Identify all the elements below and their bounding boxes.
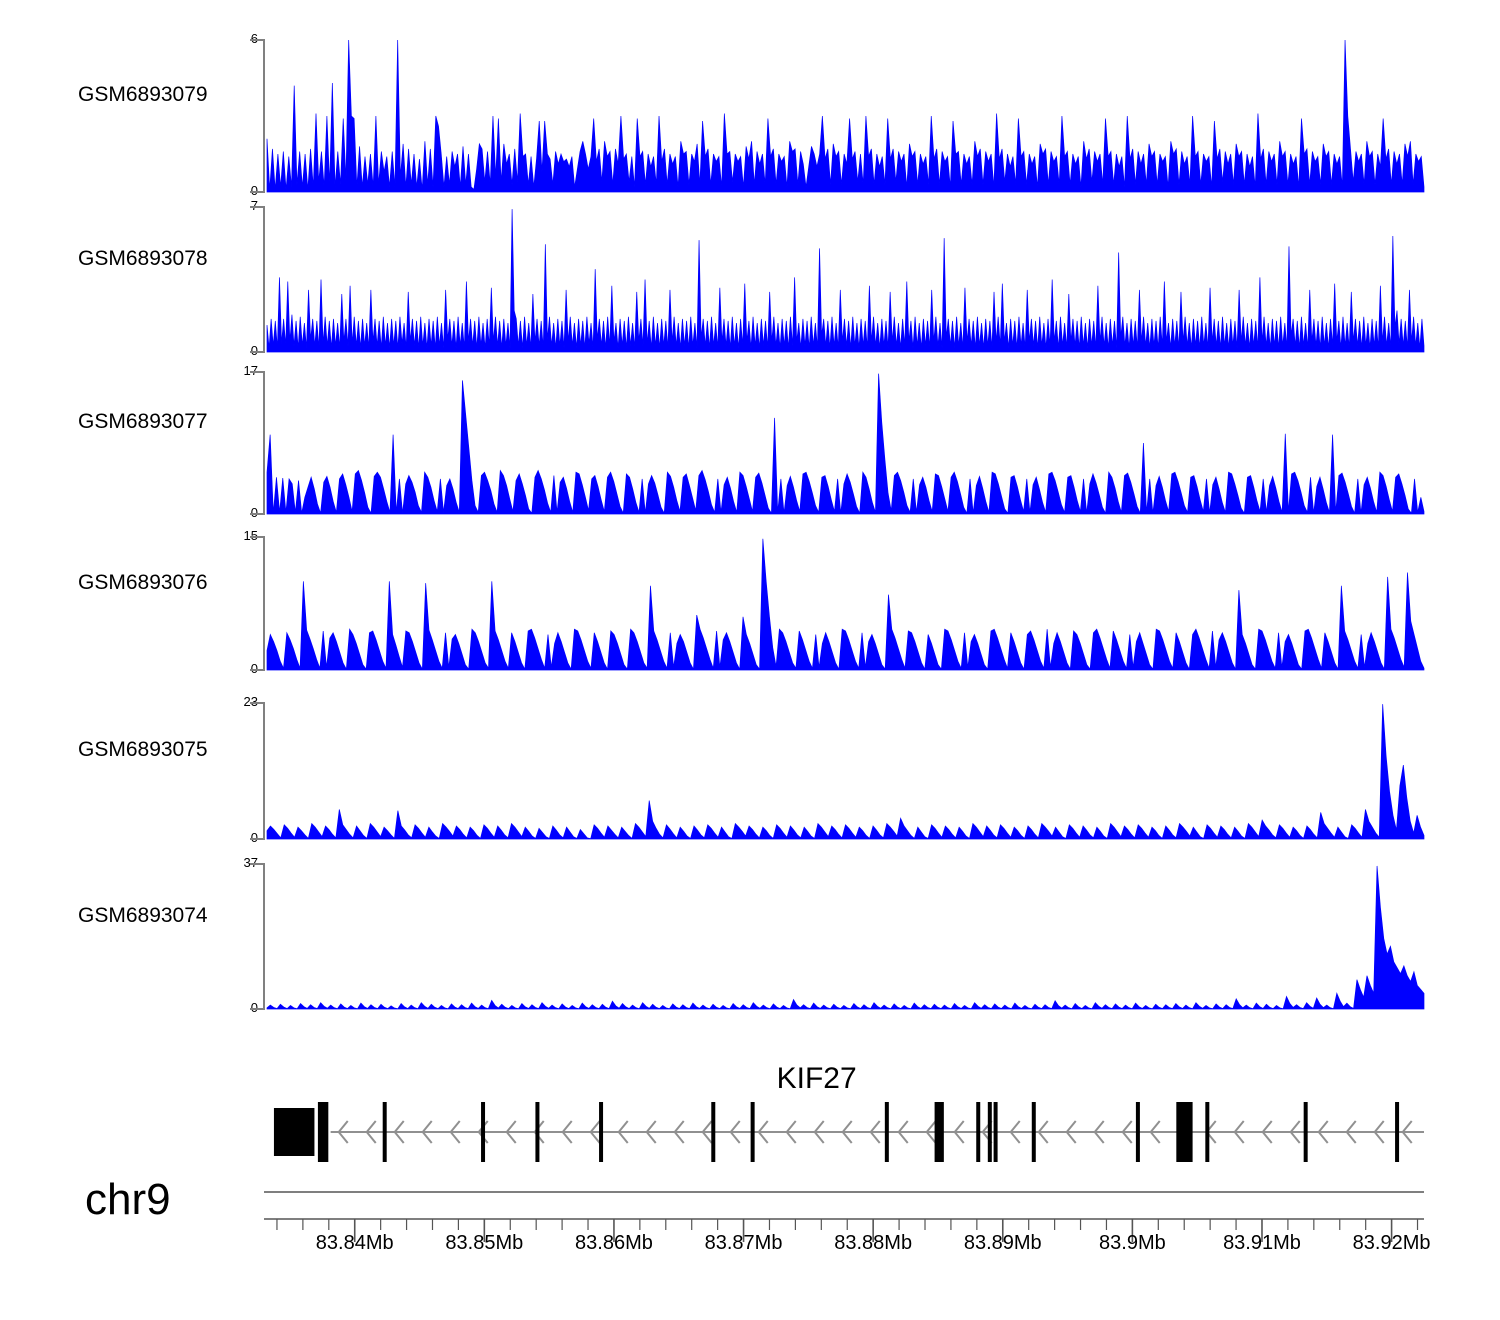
sample-label: GSM6893079 bbox=[78, 83, 208, 107]
exon-block bbox=[1395, 1102, 1399, 1162]
exon-block bbox=[885, 1102, 889, 1162]
sample-label: GSM6893077 bbox=[78, 410, 208, 434]
coverage-area bbox=[267, 866, 1424, 1009]
y-axis-min-label: 0 bbox=[216, 661, 258, 676]
y-axis-max-label: 23 bbox=[216, 694, 258, 709]
coverage-area bbox=[267, 374, 1424, 514]
coverage-area bbox=[267, 40, 1424, 192]
exon-block-wide bbox=[937, 1102, 944, 1162]
exon-block bbox=[711, 1102, 715, 1162]
terminal-exon-block bbox=[274, 1108, 314, 1156]
y-axis-max-label: 6 bbox=[216, 31, 258, 46]
exon-block bbox=[1032, 1102, 1036, 1162]
sample-label: GSM6893074 bbox=[78, 904, 208, 928]
exon-block bbox=[1304, 1102, 1308, 1162]
sample-label: GSM6893078 bbox=[78, 247, 208, 271]
exon-block bbox=[751, 1102, 755, 1162]
gene-model-track[interactable] bbox=[0, 1060, 1500, 1190]
y-axis-max-label: 15 bbox=[216, 528, 258, 543]
exon-block bbox=[1205, 1102, 1209, 1162]
y-axis-min-label: 0 bbox=[216, 183, 258, 198]
y-axis-max-label: 7 bbox=[216, 198, 258, 213]
exon-block bbox=[1136, 1102, 1140, 1162]
exon-block bbox=[481, 1102, 485, 1162]
y-axis-max-label: 37 bbox=[216, 855, 258, 870]
gene-model-svg bbox=[0, 1060, 1500, 1190]
coverage-area bbox=[267, 209, 1424, 352]
utr-block bbox=[318, 1102, 328, 1162]
coverage-area bbox=[267, 704, 1424, 839]
y-axis-min-label: 0 bbox=[216, 505, 258, 520]
sample-label: GSM6893076 bbox=[78, 571, 208, 595]
exon-block bbox=[535, 1102, 539, 1162]
y-axis-min-label: 0 bbox=[216, 343, 258, 358]
y-axis-min-label: 0 bbox=[216, 830, 258, 845]
exon-block bbox=[383, 1102, 387, 1162]
exon-block bbox=[988, 1102, 992, 1162]
exon-block-wide bbox=[1176, 1102, 1192, 1162]
exon-block bbox=[976, 1102, 980, 1162]
y-axis-max-label: 17 bbox=[216, 363, 258, 378]
sample-label: GSM6893075 bbox=[78, 738, 208, 762]
coverage-track[interactable]: GSM6893074370 bbox=[0, 0, 1500, 1]
y-axis-min-label: 0 bbox=[216, 1000, 258, 1015]
genome-browser-view: GSM689307960GSM689307870GSM6893077170GSM… bbox=[0, 0, 1500, 1320]
coverage-area bbox=[267, 539, 1424, 670]
ruler-tick-label: 83.92Mb bbox=[1312, 1232, 1472, 1255]
exon-block bbox=[994, 1102, 998, 1162]
exon-block bbox=[599, 1102, 603, 1162]
